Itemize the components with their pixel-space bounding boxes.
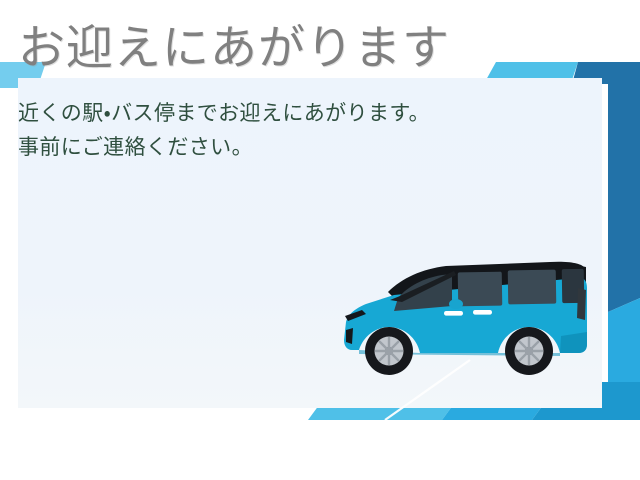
- body-line-1: 近くの駅・バス停までお迎えにあがります。: [18, 97, 450, 132]
- body-text: 近くの駅・バス停までお迎えにあがります。 事前にご連絡ください。: [18, 97, 450, 166]
- right-vertical-dark-blue-bar: [608, 62, 640, 312]
- text-block: お迎えにあがります 近くの駅・バス停までお迎えにあがります。 事前にご連絡くださ…: [18, 22, 450, 166]
- page-title: お迎えにあがります: [18, 22, 450, 75]
- body-line-2: 事前にご連絡ください。: [18, 131, 450, 166]
- promo-slide: お迎えにあがります 近くの駅・バス停までお迎えにあがります。 事前にご連絡くださ…: [0, 0, 640, 480]
